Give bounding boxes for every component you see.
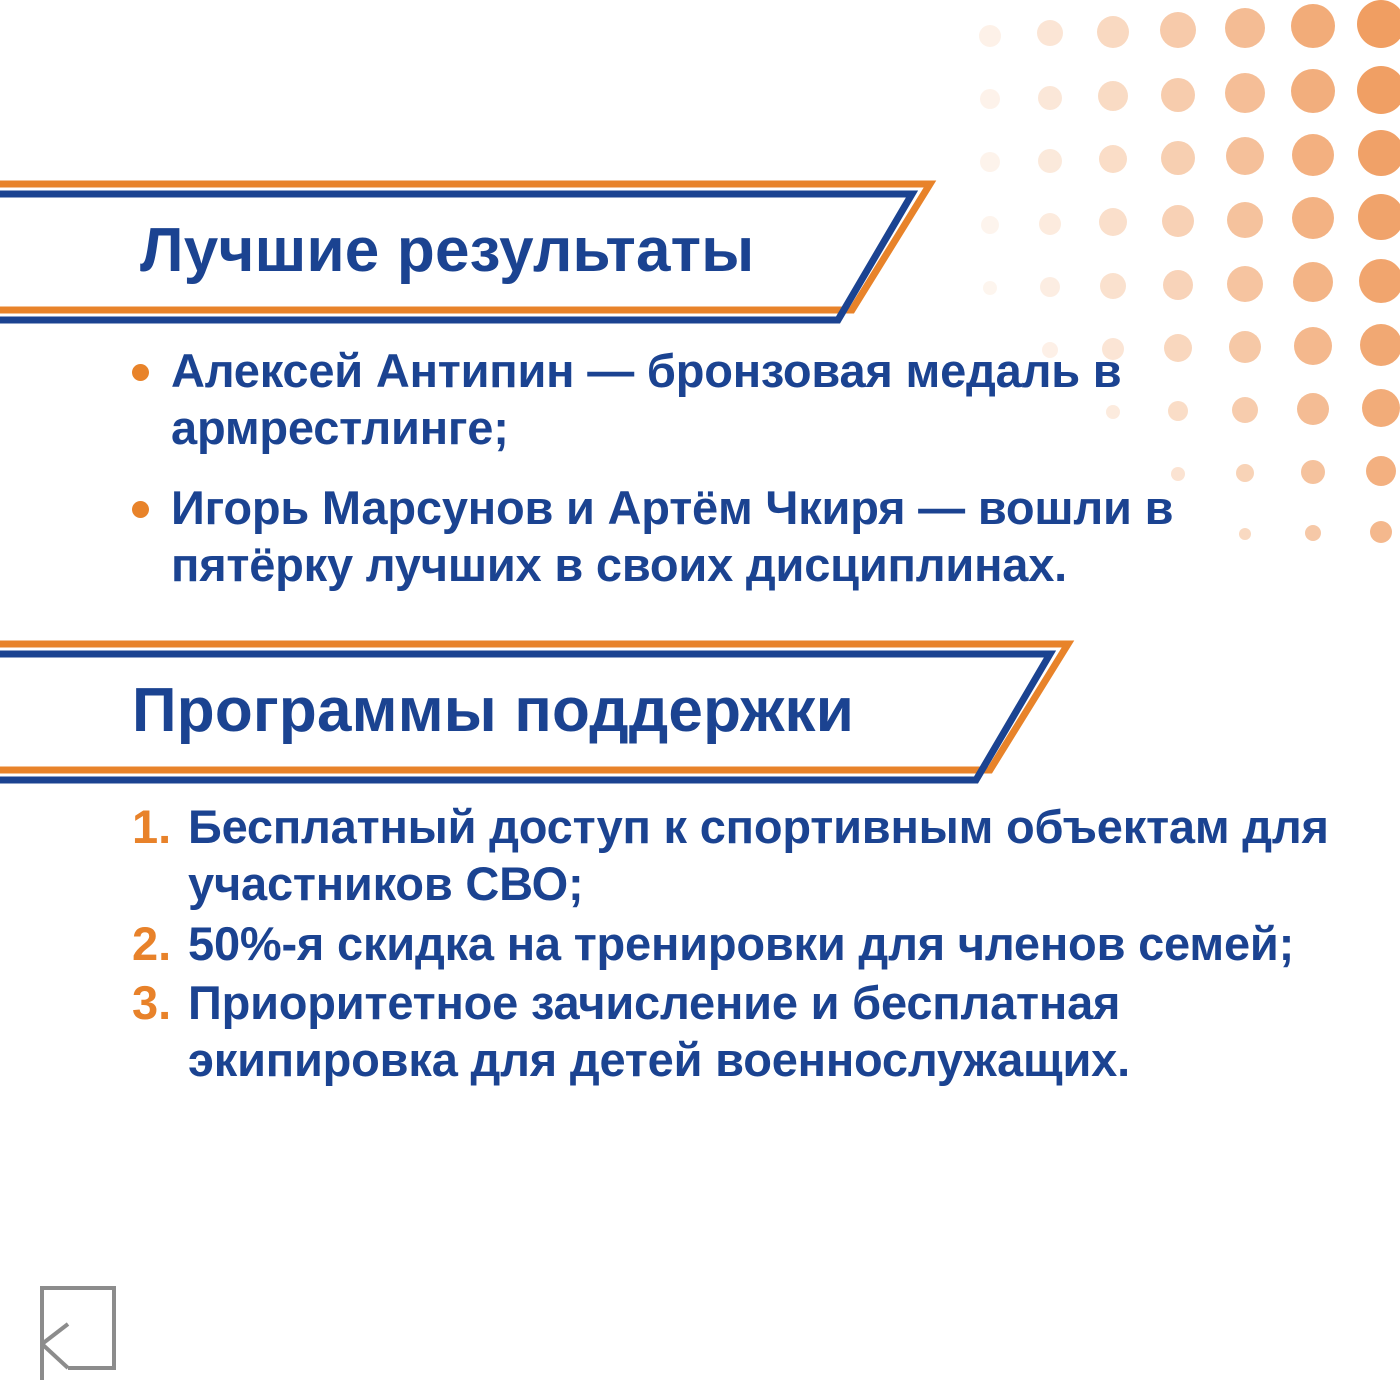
results-list: Алексей Антипин — бронзовая медаль в арм… [132,342,1272,615]
list-item: 2. 50%-я скидка на тренировки для членов… [132,915,1352,972]
list-item-text: 50%-я скидка на тренировки для членов се… [188,915,1294,972]
section-heading-banner-results: Лучшие результаты [0,176,940,324]
list-item-text: Алексей Антипин — бронзовая медаль в арм… [171,342,1272,457]
list-item-text: Бесплатный доступ к спортивным объектам … [188,798,1352,913]
k-square-logo-icon [36,1282,120,1386]
section-heading-banner-programs: Программы поддержки [0,636,1080,784]
list-item: 3. Приоритетное зачисление и бесплатная … [132,974,1352,1089]
list-item-number: 3. [132,974,188,1031]
list-item: 1. Бесплатный доступ к спортивным объект… [132,798,1352,913]
bullet-dot-icon [132,501,149,518]
section-heading-text-programs: Программы поддержки [132,636,854,784]
list-item: Алексей Антипин — бронзовая медаль в арм… [132,342,1272,457]
support-programs-list: 1. Бесплатный доступ к спортивным объект… [132,798,1352,1091]
section-heading-text-results: Лучшие результаты [140,176,754,324]
bullet-dot-icon [132,364,149,381]
list-item-text: Игорь Марсунов и Артём Чкиря — вошли в п… [171,479,1272,594]
list-item: Игорь Марсунов и Артём Чкиря — вошли в п… [132,479,1272,594]
list-item-number: 1. [132,798,188,855]
list-item-number: 2. [132,915,188,972]
list-item-text: Приоритетное зачисление и бесплатная эки… [188,974,1352,1089]
